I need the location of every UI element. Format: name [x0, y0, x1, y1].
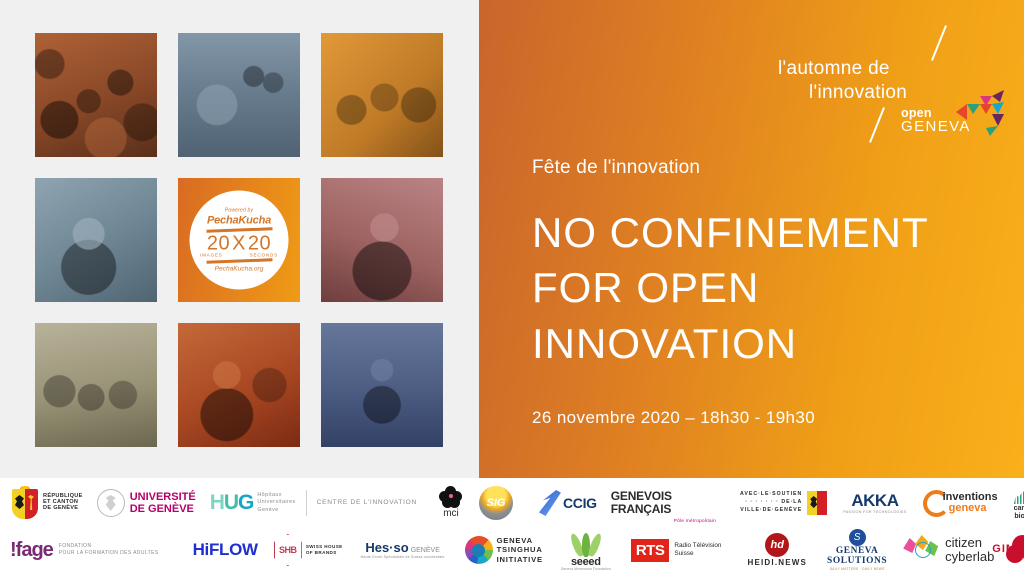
logo-citizen-cyberlab: citizen cyberlab: [903, 526, 994, 574]
citizen-cyberlab-icon: [903, 535, 941, 565]
line-1: GENEVA: [497, 536, 543, 545]
color-tint-overlay: [178, 323, 300, 447]
color-tint-overlay: [178, 33, 300, 157]
logo-text-gti: GENEVA TSINGHUA INITIATIVE: [497, 536, 543, 564]
logo-centre-de-linnovation: CENTRE DE L'INNOVATION: [317, 480, 417, 526]
headline-line-1: NO CONFINEMENT: [532, 205, 992, 260]
logo-inventions-geneva: inventions geneva: [923, 480, 998, 526]
pechakucha-label-images: IMAGES: [200, 252, 223, 257]
logo-universite-de-geneve: UNIVERSITÉ DE GENÈVE: [97, 480, 196, 526]
slash-decoration-top: [931, 25, 947, 61]
divider-1: [306, 480, 307, 526]
masked-man-scarf-photo: [35, 178, 157, 302]
logo-hes-so-geneve: Hes·so GENÈVE Haute Ecole Spécialisée de…: [361, 526, 445, 574]
pechakucha-powered-by: Powered by: [225, 208, 253, 214]
slash-decoration-bottom: [869, 107, 885, 143]
line-1: Radio Télévision: [674, 542, 721, 550]
open-geneva-diamond-icon: [956, 88, 1012, 140]
logo-text-centre-innovation: CENTRE DE L'INNOVATION: [317, 500, 417, 507]
logo-text-genevois: GENEVOIS FRANÇAIS: [611, 490, 672, 515]
logo-geneva-tsinghua-initiative: GENEVA TSINGHUA INITIATIVE: [465, 526, 543, 574]
logo-rts: RTS Radio Télévision Suisse: [631, 526, 722, 574]
line-2: DE GENÈVE: [130, 503, 196, 515]
line-1: UNIVERSITÉ: [130, 491, 196, 503]
logo-ifage: !fage FONDATION POUR LA FORMATION DES AD…: [10, 526, 159, 574]
logo-ccig: CCIG: [539, 480, 597, 526]
line-2: SOLUTIONS: [827, 557, 887, 567]
logo-sig: SIG: [479, 480, 513, 526]
logo-republique-canton-geneve: RÉPUBLIQUE ET CANTON DE GENÈVE: [12, 480, 83, 526]
heidi-news-wordmark: HEIDI.NEWS: [747, 559, 807, 567]
headline-line-3: INNOVATION: [532, 316, 992, 371]
shb-hexagon-icon: SHB: [274, 534, 302, 566]
pechakucha-format: 20 X 20: [207, 233, 271, 253]
pechakucha-url: PechaKucha.org: [215, 266, 264, 273]
line-2: cyberlab: [945, 550, 994, 564]
line-2: biotech: [1014, 513, 1024, 520]
line-1: citizen: [945, 536, 994, 550]
geneva-solutions-tagline: DAILY MATTERS · DAILY NEWS: [830, 568, 885, 571]
line-2: POUR LA FORMATION DES ADULTES: [59, 550, 159, 558]
pechakucha-badge: Powered by PechaKucha 20 X 20 IMAGES SEC…: [190, 191, 289, 290]
line-2: Suisse: [674, 550, 721, 558]
photo-mosaic-panel: Powered by PechaKucha 20 X 20 IMAGES SEC…: [0, 0, 479, 478]
line-1: AVEC·LE·SOUTIEN: [740, 491, 802, 499]
logo-text-campus-biotech: campus biotech: [1014, 505, 1024, 520]
logo-hug: HUG Hôpitaux Universitaires Genève: [210, 480, 296, 526]
line-2: geneva: [949, 503, 998, 514]
hes-so-region: GENÈVE: [411, 547, 440, 554]
logo-seeed: seeed Geneva Momentum Foundation: [561, 526, 611, 574]
line-2: Universitaires: [257, 499, 295, 506]
logo-text-mci: mci: [443, 509, 459, 520]
hes-so-wordmark-row: Hes·so GENÈVE: [365, 540, 440, 555]
line-3: Genève: [257, 507, 295, 514]
audience-women-masks-photo: [321, 33, 443, 157]
hug-wordmark: HUG: [210, 491, 254, 515]
gti-ring-icon: [465, 536, 493, 564]
color-tint-overlay: [35, 323, 157, 447]
logo-text-genevois-sub: Pôle métropolitain: [674, 518, 716, 524]
logo-text-ville: AVEC·LE·SOUTIEN · · · · · · · DE·LA VILL…: [740, 491, 802, 514]
gimun-wordmark: GIMUN: [992, 544, 1024, 556]
logo-text-citizen-cyberlab: citizen cyberlab: [945, 536, 994, 563]
sponsor-logo-strip: RÉPUBLIQUE ET CANTON DE GENÈVE UNIVERSIT…: [0, 478, 1024, 576]
rts-wordmark: RTS: [631, 539, 670, 562]
campus-biotech-icon: [1014, 486, 1024, 504]
logo-campus-biotech: campus biotech: [1014, 480, 1024, 526]
heidi-news-monogram-icon: hd: [765, 533, 789, 557]
brand-tagline-line1: l'automne de: [778, 58, 890, 80]
photo-grid: Powered by PechaKucha 20 X 20 IMAGES SEC…: [35, 33, 444, 445]
ifage-wordmark: !fage: [10, 540, 53, 561]
geneva-coat-of-arms-icon: [12, 487, 38, 519]
vertical-divider: [306, 490, 307, 516]
seeed-tagline: Geneva Momentum Foundation: [561, 568, 611, 571]
hes-so-wordmark: Hes·so: [365, 540, 408, 555]
seated-man-workshop-photo: [178, 33, 300, 157]
event-content-panel: l'automne de l'innovation open GENEVA Fê…: [479, 0, 1024, 478]
sig-mark: SIG: [479, 486, 513, 520]
hes-so-tagline: Haute Ecole Spécialisée de Suisse occide…: [361, 556, 445, 560]
akka-wordmark: AKKA: [851, 491, 898, 511]
pechakucha-brand: PechaKucha: [207, 215, 271, 227]
pechakucha-label-seconds: SECONDS: [250, 252, 278, 257]
open-geneva-brand-lockup: l'automne de l'innovation open GENEVA: [758, 30, 1008, 142]
logo-heidi-news: hd HEIDI.NEWS: [747, 526, 807, 574]
color-tint-overlay: [321, 178, 443, 302]
color-tint-overlay: [35, 33, 157, 157]
logo-mci: mci: [439, 480, 463, 526]
logo-text-unige: UNIVERSITÉ DE GENÈVE: [130, 491, 196, 515]
akka-tagline: PASSION FOR TECHNOLOGIES: [843, 511, 906, 515]
logo-text-rts: Radio Télévision Suisse: [674, 542, 721, 559]
logo-ville-de-geneve: AVEC·LE·SOUTIEN · · · · · · · DE·LA VILL…: [740, 480, 827, 526]
event-kicker: Fête de l'innovation: [532, 157, 700, 179]
pechakucha-rule-bottom: [206, 258, 272, 263]
unige-seal-icon: [97, 489, 125, 517]
logo-swiss-house-of-brands: SHB SWISS HOUSE OF BRANDS: [274, 526, 343, 574]
event-poster: Powered by PechaKucha 20 X 20 IMAGES SEC…: [0, 0, 1024, 576]
logo-akka: AKKA PASSION FOR TECHNOLOGIES: [843, 480, 906, 526]
pechakucha-logo-tile: Powered by PechaKucha 20 X 20 IMAGES SEC…: [178, 178, 300, 302]
event-headline: NO CONFINEMENT FOR OPEN INNOVATION: [532, 205, 992, 371]
logo-gimun: GIMUN: [1006, 526, 1024, 574]
line-2: OF BRANDS: [306, 550, 343, 556]
line-1: FONDATION: [59, 543, 159, 551]
pechakucha-number-right: 20: [248, 233, 271, 253]
sponsor-row-1: RÉPUBLIQUE ET CANTON DE GENÈVE UNIVERSIT…: [0, 480, 1024, 526]
logo-text-geneva-solutions: GENEVA SOLUTIONS: [827, 547, 887, 567]
logo-text-ifage: FONDATION POUR LA FORMATION DES ADULTES: [59, 543, 159, 558]
geneva-solutions-monogram-icon: S: [849, 529, 866, 546]
hiflow-wordmark: HiFLOW: [193, 541, 258, 559]
seeed-leaf-icon: [573, 529, 599, 557]
brand-tagline-line2: l'innovation: [809, 82, 907, 104]
line-2: FRANÇAIS: [611, 503, 672, 516]
pechakucha-labels: IMAGES SECONDS: [200, 252, 278, 257]
headline-line-2: FOR OPEN: [532, 260, 992, 315]
color-tint-overlay: [35, 178, 157, 302]
line-1: campus: [1014, 505, 1024, 512]
line-3: INITIATIVE: [497, 555, 543, 564]
man-badge-table-photo: [321, 178, 443, 302]
line-3: VILLE·DE·GENÈVE: [740, 507, 802, 515]
ccig-arrow-icon: [539, 490, 561, 516]
pechakucha-rule-top: [206, 227, 272, 232]
sponsor-row-2: !fage FONDATION POUR LA FORMATION DES AD…: [0, 526, 1024, 574]
line-1: Hôpitaux: [257, 492, 295, 499]
logo-genevois-francais: GENEVOIS FRANÇAIS Pôle métropolitain: [611, 480, 716, 526]
logo-text-shb: SWISS HOUSE OF BRANDS: [306, 544, 343, 557]
logo-hiflow: HiFLOW: [193, 526, 258, 574]
line-2: TSINGHUA: [497, 545, 543, 554]
mci-flower-icon: [439, 486, 463, 508]
audience-wheelchair-photo: [35, 33, 157, 157]
ville-geneve-arms-icon: [807, 491, 827, 515]
man-presenting-poster-photo: [321, 323, 443, 447]
logo-text-hug: Hôpitaux Universitaires Genève: [257, 492, 295, 513]
color-tint-overlay: [321, 323, 443, 447]
pechakucha-multiplier: X: [232, 233, 246, 253]
logo-geneva-solutions: S GENEVA SOLUTIONS DAILY MATTERS · DAILY…: [827, 526, 887, 574]
event-datetime: 26 novembre 2020 – 18h30 - 19h30: [532, 408, 815, 428]
line-2: · · · · · · · DE·LA: [740, 499, 802, 507]
color-tint-overlay: [321, 33, 443, 157]
line-3: DE GENÈVE: [43, 506, 83, 512]
logo-text-inventions: inventions geneva: [943, 492, 998, 514]
students-laptops-photo: [35, 323, 157, 447]
logo-text-republique: RÉPUBLIQUE ET CANTON DE GENÈVE: [43, 494, 83, 512]
pechakucha-number-left: 20: [207, 233, 230, 253]
logo-text-ccig: CCIG: [563, 496, 597, 511]
man-tie-audience-photo: [178, 323, 300, 447]
